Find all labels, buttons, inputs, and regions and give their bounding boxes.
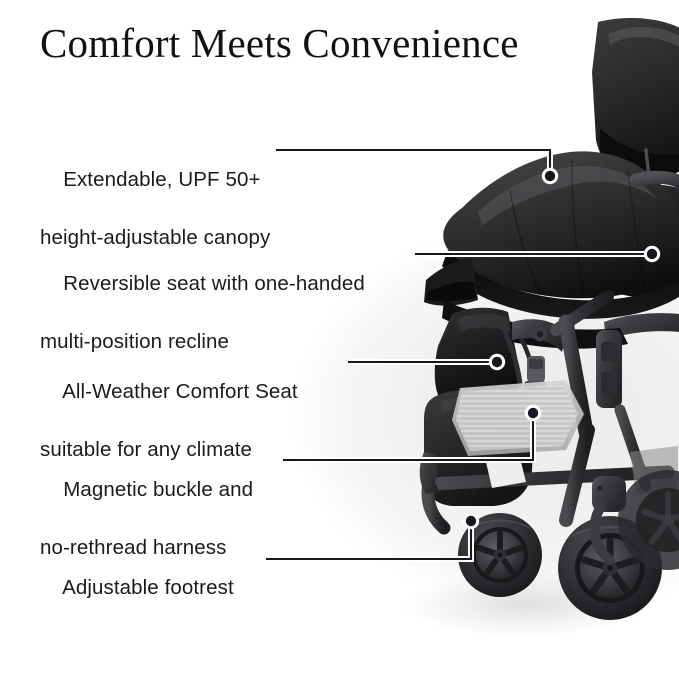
frame-rear-leg-2 xyxy=(620,410,646,486)
frame-rear-leg xyxy=(566,430,588,520)
leader-dot-buckle xyxy=(525,405,541,421)
lower-canopy-flap xyxy=(442,300,628,368)
front-canopy-sheen xyxy=(478,166,656,226)
adjustable-footrest-part xyxy=(420,452,440,494)
basket-tag xyxy=(486,458,526,488)
wheels xyxy=(458,470,679,620)
rear-seat-assembly xyxy=(592,18,679,340)
leader-halo-buckle xyxy=(283,413,533,460)
harness-strap-left xyxy=(504,330,520,384)
seat-footmuff-sheen xyxy=(440,395,520,414)
leader-line-canopy xyxy=(276,150,550,176)
seat-back xyxy=(435,308,521,408)
callout-line-1: Reversible seat with one-handed xyxy=(63,272,365,295)
rear-canopy xyxy=(592,18,679,181)
floor-shadow xyxy=(360,560,679,650)
frame-lower-bar xyxy=(430,472,668,484)
leader-line-buckle xyxy=(283,413,533,460)
leader-dot-reversible xyxy=(644,246,660,262)
harness-strap-right xyxy=(520,336,536,386)
front-seat-assembly: UPPAbaby xyxy=(424,308,566,506)
leader-line-footrest xyxy=(266,521,471,559)
canopy-flap-ribs xyxy=(470,318,620,368)
frame-center-post xyxy=(566,322,586,432)
frame-adapter-block xyxy=(596,330,622,408)
callout-line-1: Magnetic buckle and xyxy=(63,478,253,501)
leader-dot-canopy xyxy=(542,168,558,184)
wheel-front-right xyxy=(558,516,662,620)
leader-dot-allweather xyxy=(489,354,505,370)
canopy-seam-1 xyxy=(510,190,540,292)
storage-basket-right xyxy=(630,446,678,494)
leader-halo-footrest xyxy=(266,521,471,559)
canopy-seam-2 xyxy=(572,160,584,294)
rear-bumper-bar xyxy=(604,313,679,340)
leader-endpoint-markers xyxy=(463,168,660,529)
wheel-rear xyxy=(618,470,679,570)
page-title: Comfort Meets Convenience xyxy=(40,22,519,65)
rear-seat-edge xyxy=(610,236,679,269)
canopy-extension-panel xyxy=(424,258,478,306)
rear-seat-shell xyxy=(604,184,679,297)
front-canopy-assembly xyxy=(424,151,679,319)
callout-label-adjustable-footrest: Adjustable footrest xyxy=(40,544,234,631)
wheel-swivel-fork xyxy=(592,476,626,560)
recline-pivot-center xyxy=(537,331,543,337)
seat-recline-hinge xyxy=(512,319,566,352)
front-canopy xyxy=(443,151,679,298)
callout-line-1: Extendable, UPF 50+ xyxy=(63,168,260,191)
leader-dot-footrest xyxy=(463,513,479,529)
leader-halo-canopy xyxy=(276,150,550,176)
canopy-flap-body xyxy=(442,300,628,349)
infographic-canvas: UPPAbaby xyxy=(0,0,679,679)
rear-canopy-highlight xyxy=(608,27,679,52)
frame-upper-link xyxy=(556,296,608,330)
callout-line-1: All-Weather Comfort Seat xyxy=(62,380,298,403)
wheel-front-left xyxy=(458,513,542,597)
rear-canopy-arm xyxy=(646,150,652,206)
svg-text:UPPAbaby: UPPAbaby xyxy=(460,426,495,433)
canopy-seam-3 xyxy=(628,170,644,286)
front-canopy-underside xyxy=(442,250,679,319)
storage-basket-mesh xyxy=(456,384,578,451)
stroller-frame xyxy=(420,296,678,528)
canopy-extension-inner xyxy=(426,281,476,301)
brand-logo: UPPAbaby xyxy=(456,424,498,433)
magnetic-buckle-part xyxy=(524,356,546,395)
seat-footmuff xyxy=(424,389,534,506)
rear-canopy-underside xyxy=(600,128,679,175)
recline-pivot xyxy=(533,327,548,342)
frame-front-leg xyxy=(428,470,444,528)
seat-back-highlight xyxy=(458,314,510,333)
storage-basket xyxy=(452,380,584,456)
callout-line-1: Adjustable footrest xyxy=(62,576,234,599)
handlebar xyxy=(636,177,679,190)
